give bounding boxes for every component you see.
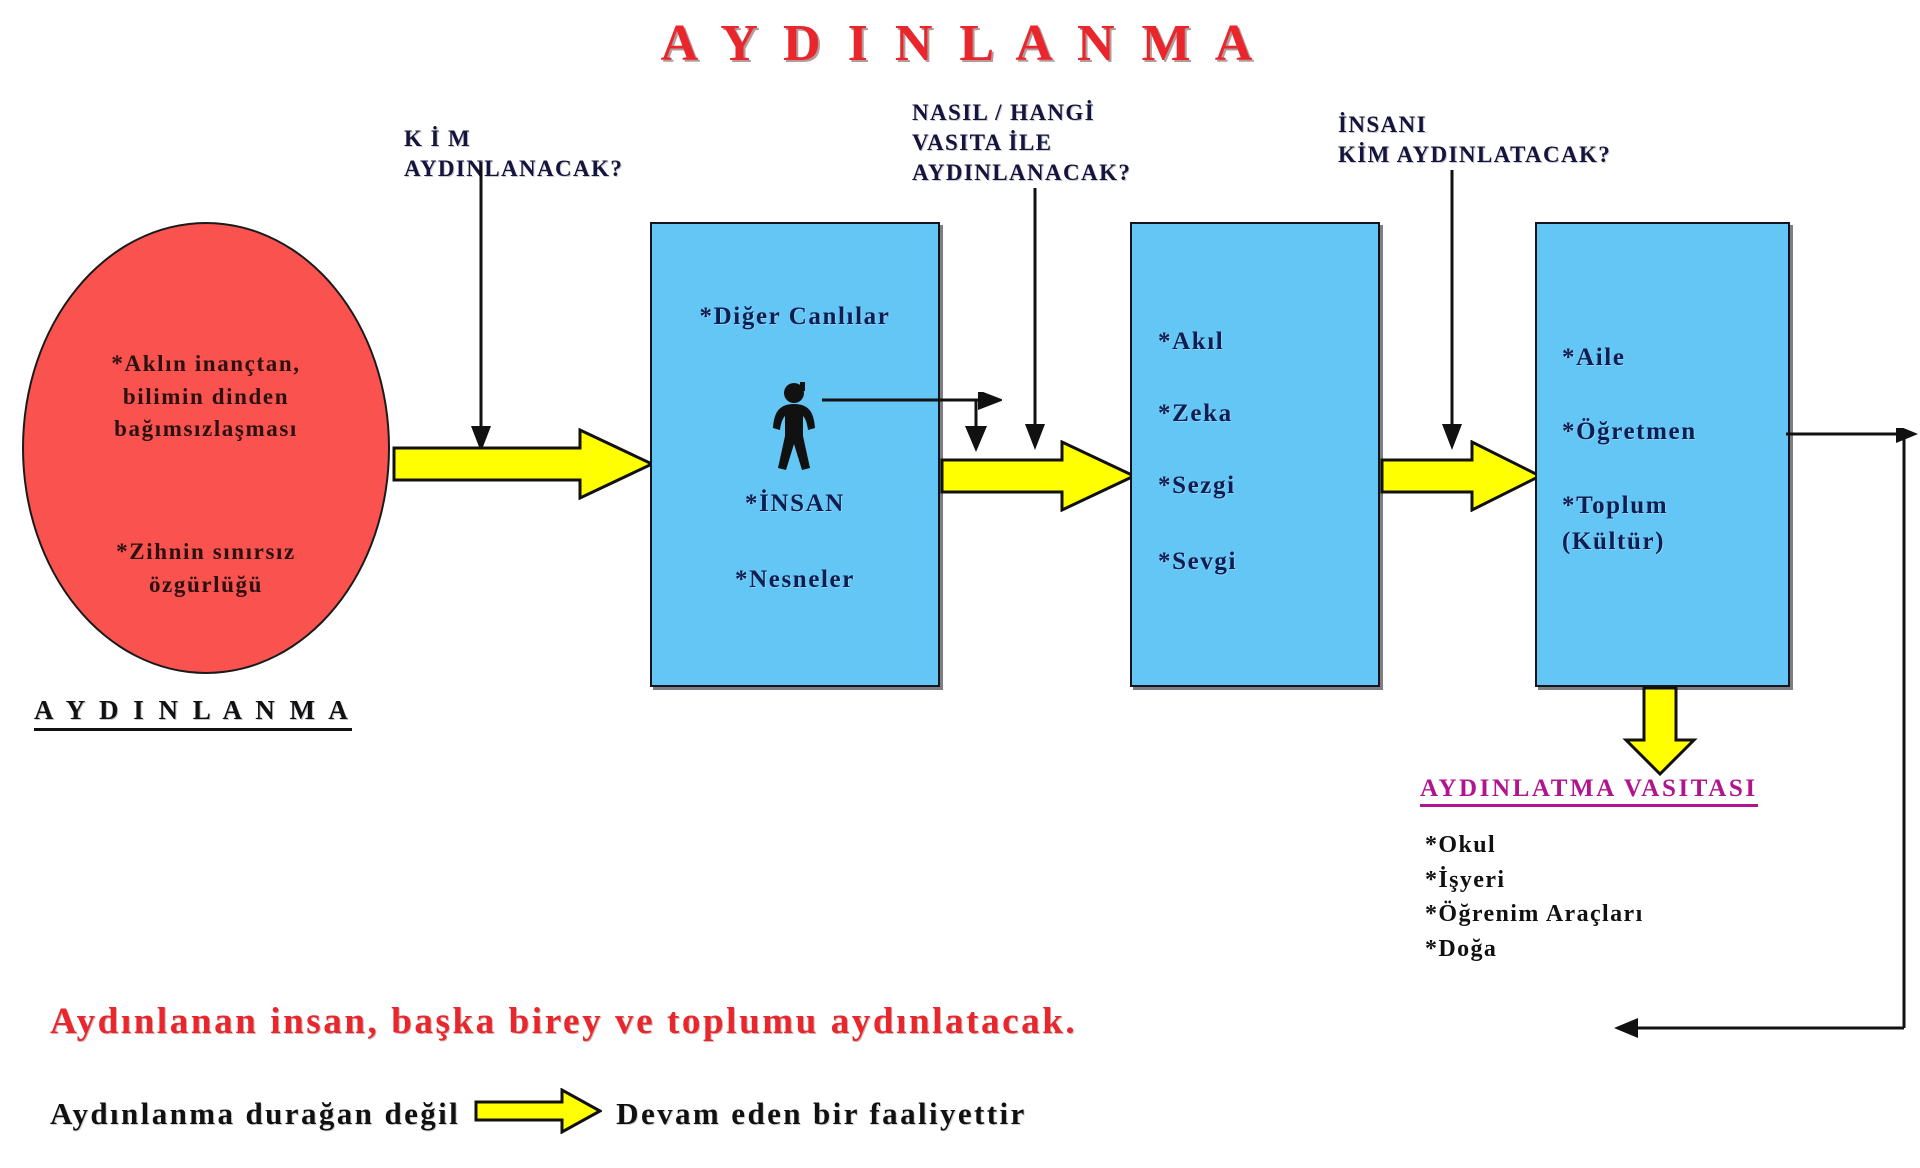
flow-arrow-down-to-means [1622, 686, 1698, 776]
legend-right-text: Devam eden bir faaliyettir [616, 1096, 1027, 1132]
connector-arrow-to-third-yellow [1439, 170, 1465, 450]
diagram-canvas: A Y D I N L A N M A K İ M AYDINLANACAK? … [0, 0, 1920, 1168]
box-agents-item: *Toplum [1562, 492, 1668, 520]
feedback-loop-arrowhead [1612, 1012, 1812, 1044]
means-item: *Öğrenim Araçları [1425, 897, 1644, 932]
ellipse-text-line: bilimin dinden [22, 381, 390, 414]
box-human-item-human: *İNSAN [650, 490, 940, 518]
conclusion-statement: Aydınlanan insan, başka birey ve toplumu… [50, 1000, 1077, 1043]
box-faculties-item: *Akıl [1158, 328, 1224, 356]
label-line-1: İNSANI [1338, 110, 1611, 140]
ellipse-caption-label: A Y D I N L A N M A [34, 695, 352, 731]
box-faculties-item: *Sezgi [1158, 472, 1236, 500]
ellipse-text-line: *Aklın inançtan, [22, 348, 390, 381]
enlightenment-concept-ellipse [22, 222, 390, 674]
feedback-loop-arrow [1786, 428, 1920, 1038]
label-line-1: K İ M [404, 124, 623, 154]
legend: Aydınlanma durağan değil Devam eden bir … [50, 1088, 1027, 1139]
box-agents-item: *Öğretmen [1562, 418, 1697, 446]
ellipse-definition-first: *Aklın inançtan, bilimin dinden bağımsız… [22, 348, 390, 446]
label-line-2: AYDINLANACAK? [404, 154, 623, 184]
means-item: *Doğa [1425, 932, 1644, 967]
flow-arrow-3 [1380, 440, 1542, 512]
connector-arrow-to-second-yellow [1022, 188, 1048, 450]
means-item: *İşyeri [1425, 863, 1644, 898]
person-icon [764, 382, 824, 470]
box-faculties-item: *Zeka [1158, 400, 1233, 428]
label-line-1: NASIL / HANGİ [912, 98, 1131, 128]
legend-left-text: Aydınlanma durağan değil [50, 1096, 460, 1132]
label-line-3: AYDINLANACAK? [912, 158, 1131, 188]
box-inner-faculties [1130, 222, 1380, 687]
label-line-2: VASITA İLE [912, 128, 1131, 158]
label-line-2: KİM AYDINLATACAK? [1338, 140, 1611, 170]
ellipse-text-line: bağımsızlaşması [22, 413, 390, 446]
means-of-enlightenment-title: AYDINLATMA VASITASI [1420, 775, 1758, 807]
means-of-enlightenment-list: *Okul *İşyeri *Öğrenim Araçları *Doğa [1425, 828, 1644, 966]
page-title: A Y D I N L A N M A [0, 14, 1920, 73]
box-agents-item: (Kültür) [1562, 528, 1665, 556]
label-how-by-what-means: NASIL / HANGİ VASITA İLE AYDINLANACAK? [912, 98, 1131, 188]
legend-arrow-icon [474, 1088, 602, 1139]
box-faculties-item: *Sevgi [1158, 548, 1237, 576]
flow-arrow-2 [940, 440, 1136, 512]
ellipse-text-line: *Zihnin sınırsız [22, 536, 390, 569]
ellipse-text-line: özgürlüğü [22, 569, 390, 602]
means-item: *Okul [1425, 828, 1644, 863]
label-who-will-be-enlightened: K İ M AYDINLANACAK? [404, 124, 623, 184]
ellipse-definition-second: *Zihnin sınırsız özgürlüğü [22, 536, 390, 601]
label-who-will-enlighten: İNSANI KİM AYDINLATACAK? [1338, 110, 1611, 170]
box-enlightening-agents [1535, 222, 1790, 687]
box-human-item-objects: *Nesneler [650, 566, 940, 594]
connector-arrow-to-first-yellow [468, 162, 494, 452]
flow-arrow-1 [392, 428, 654, 500]
box-human-item-other-beings: *Diğer Canlılar [650, 303, 940, 331]
box-agents-item: *Aile [1562, 344, 1626, 372]
